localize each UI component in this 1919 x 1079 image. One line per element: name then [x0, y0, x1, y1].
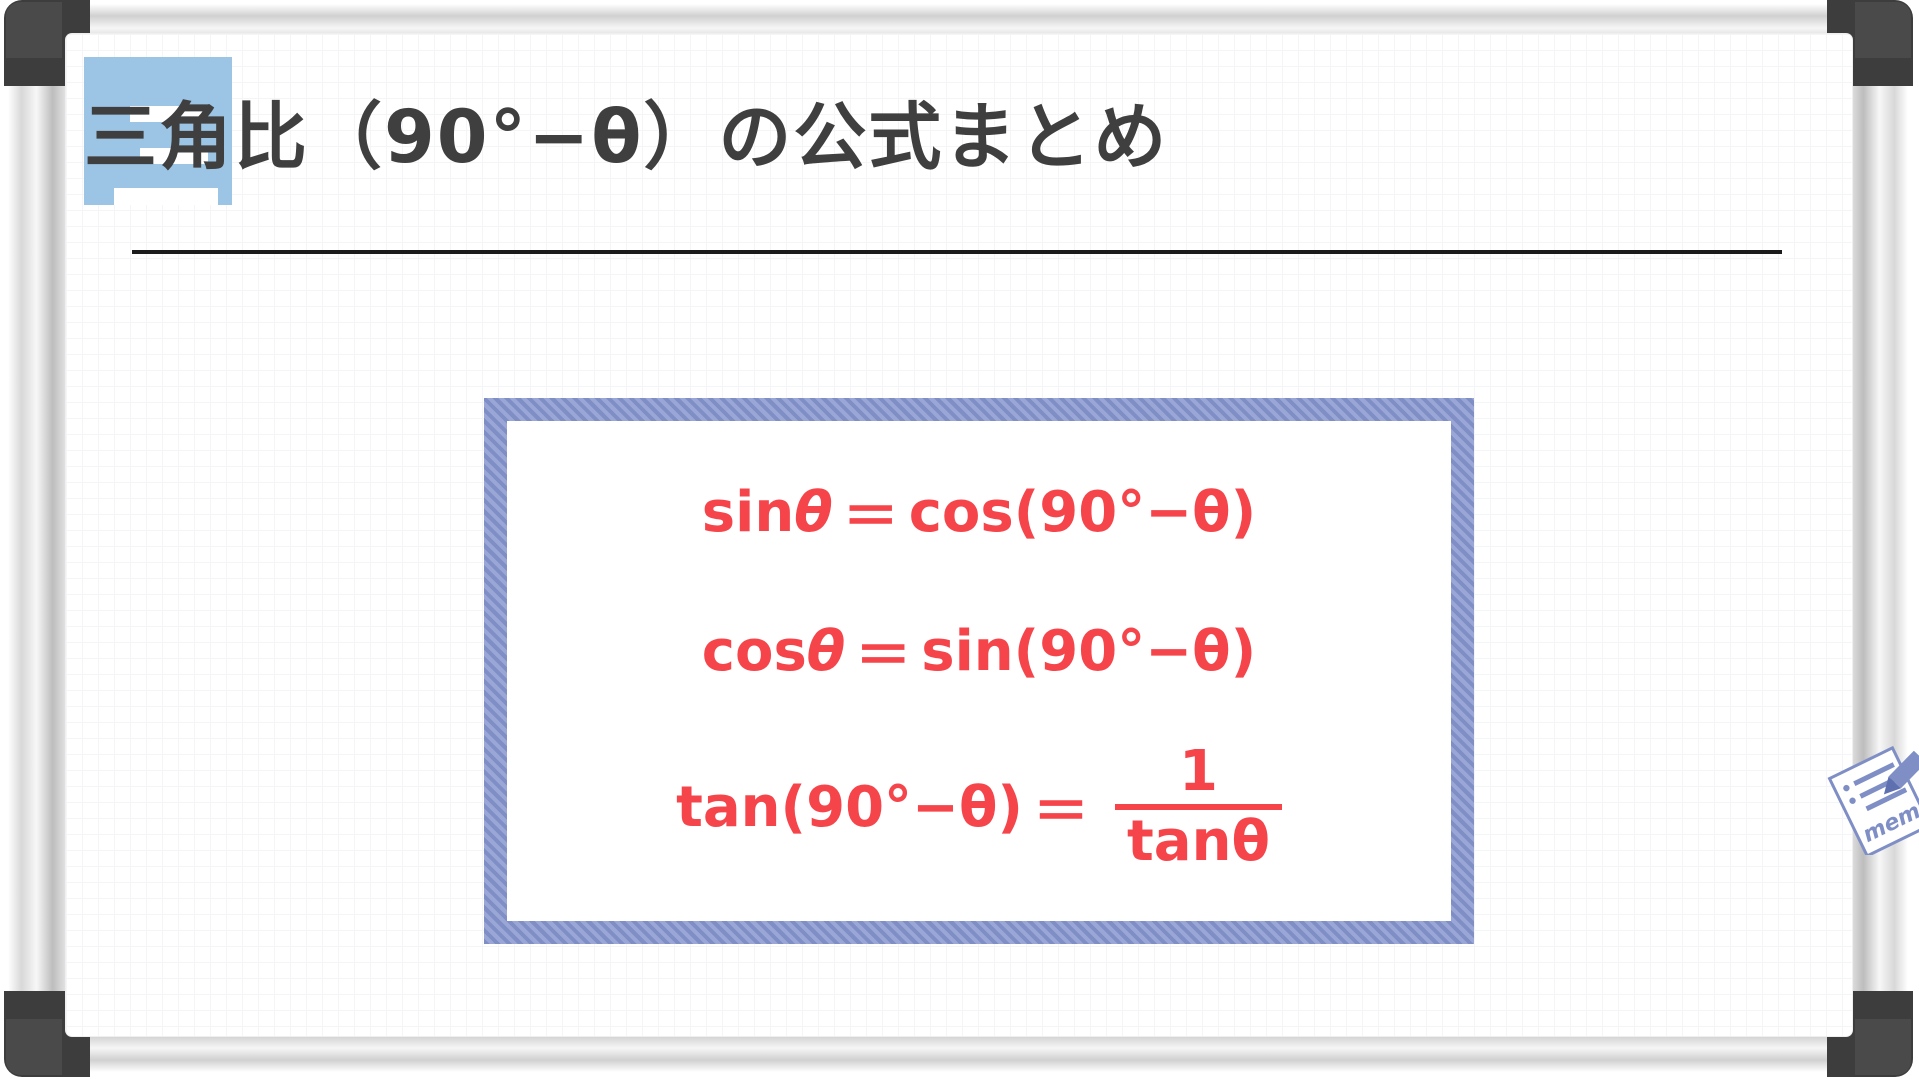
- formula-cos-rhs: sin(90°−θ): [921, 619, 1256, 684]
- formula-cos: cosθ＝sin(90°−θ): [702, 611, 1256, 692]
- formula-sin-lhs: sin: [702, 480, 794, 545]
- formula-tan-equals: ＝: [1033, 767, 1089, 848]
- formula-cos-lhs: cos: [702, 619, 807, 684]
- frame-rail-right: [1846, 4, 1908, 1072]
- fraction-numerator: 1: [1167, 744, 1230, 804]
- formula-sin-equals: ＝: [843, 472, 899, 553]
- whiteboard: 三角比（90°−θ）の公式まとめ sinθ＝cos(90°−θ) cosθ＝si…: [0, 0, 1919, 1079]
- board-surface: 三角比（90°−θ）の公式まとめ sinθ＝cos(90°−θ) cosθ＝si…: [66, 34, 1852, 1036]
- formula-tan-lhs: tan(90°−θ): [676, 775, 1023, 840]
- formula-tan-fraction: 1 tanθ: [1115, 744, 1282, 870]
- formula-cos-lhs-var: θ: [807, 619, 845, 684]
- formula-tan: tan(90°−θ)＝ 1 tanθ: [676, 744, 1282, 870]
- formula-sin-rhs: cos(90°−θ): [909, 480, 1257, 545]
- page-title: 三角比（90°−θ）の公式まとめ: [84, 78, 1168, 184]
- formula-sin: sinθ＝cos(90°−θ): [702, 472, 1256, 553]
- title-underline: [132, 250, 1782, 254]
- page-title-row: 三角比（90°−θ）の公式まとめ: [84, 66, 1168, 196]
- formula-sin-lhs-var: θ: [794, 480, 832, 545]
- fraction-denominator: tanθ: [1115, 810, 1282, 870]
- formula-cos-equals: ＝: [855, 611, 911, 692]
- frame-rail-bottom: [8, 1032, 1908, 1072]
- frame-rail-left: [8, 4, 70, 1072]
- memo-notepad-pencil-icon: memo: [1827, 739, 1919, 855]
- formula-box: sinθ＝cos(90°−θ) cosθ＝sin(90°−θ) tan(90°−…: [484, 398, 1474, 944]
- formula-list: sinθ＝cos(90°−θ) cosθ＝sin(90°−θ) tan(90°−…: [507, 421, 1451, 921]
